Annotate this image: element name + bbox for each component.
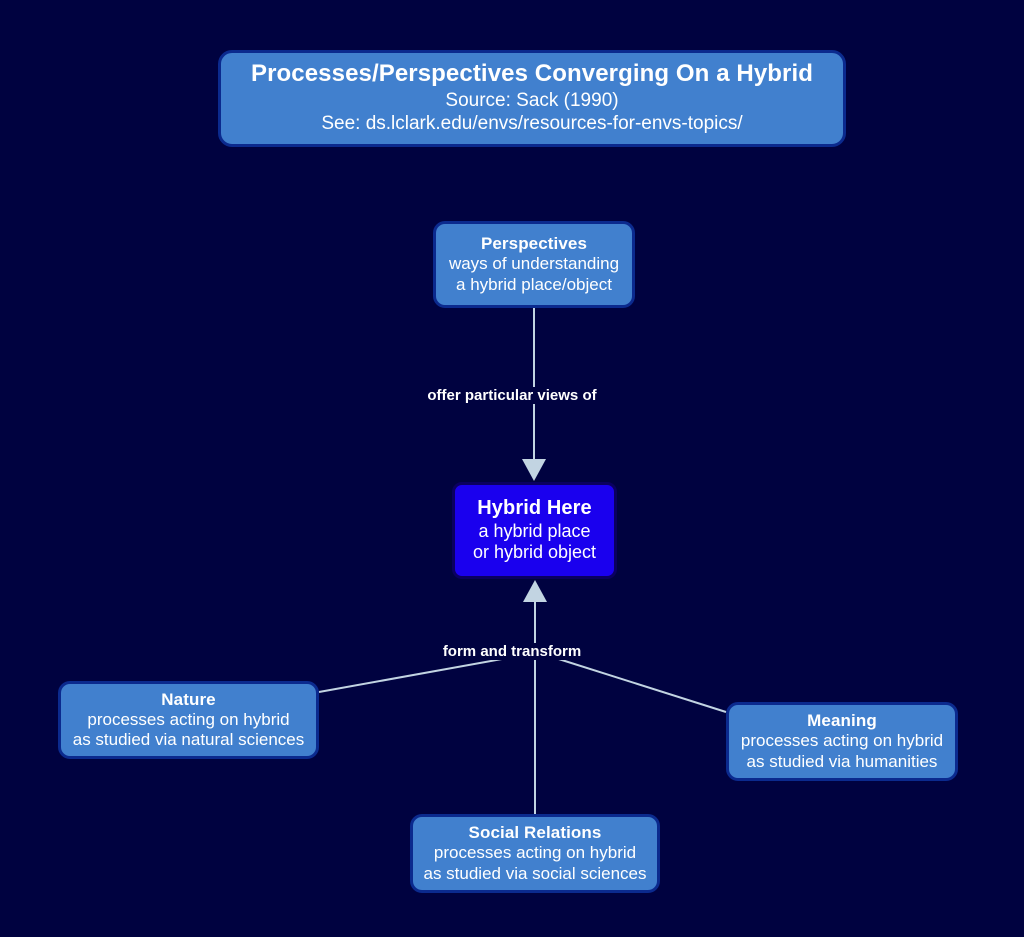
edge-label-form-and-transform: form and transform [0, 643, 1024, 660]
node-meaning-line1: processes acting on hybrid [741, 731, 943, 751]
diagram-canvas: Processes/Perspectives Converging On a H… [0, 0, 1024, 937]
node-perspectives-line1: ways of understanding [449, 254, 619, 274]
edge-label-top-text: offer particular views of [420, 387, 603, 404]
diagram-title: Processes/Perspectives Converging On a H… [251, 60, 813, 88]
node-social-relations-line1: processes acting on hybrid [434, 843, 636, 863]
node-perspectives-line2: a hybrid place/object [456, 275, 612, 295]
node-nature-title: Nature [161, 690, 215, 710]
node-perspectives-title: Perspectives [481, 234, 587, 254]
node-nature-line1: processes acting on hybrid [87, 710, 289, 730]
node-meaning[interactable]: Meaning processes acting on hybrid as st… [726, 702, 958, 781]
node-meaning-title: Meaning [807, 711, 877, 731]
arrowhead-up-icon [523, 580, 547, 602]
node-social-relations[interactable]: Social Relations processes acting on hyb… [410, 814, 660, 893]
node-nature[interactable]: Nature processes acting on hybrid as stu… [58, 681, 319, 759]
node-social-relations-title: Social Relations [469, 823, 602, 843]
edge-label-offer-particular-views-of: offer particular views of [0, 387, 1024, 404]
diagram-see-url: See: ds.lclark.edu/envs/resources-for-en… [321, 113, 742, 135]
node-hybrid-here-line1: a hybrid place [478, 521, 590, 542]
arrowhead-down-icon [522, 459, 546, 481]
edge-label-bottom-text: form and transform [436, 643, 588, 660]
node-hybrid-here-title: Hybrid Here [477, 497, 591, 521]
node-perspectives[interactable]: Perspectives ways of understanding a hyb… [433, 221, 635, 308]
node-social-relations-line2: as studied via social sciences [423, 864, 646, 884]
diagram-title-banner: Processes/Perspectives Converging On a H… [218, 50, 846, 147]
edge-nature-to-hybrid [319, 655, 524, 692]
node-hybrid-here-line2: or hybrid object [473, 542, 596, 563]
diagram-source: Source: Sack (1990) [445, 90, 618, 112]
node-nature-line2: as studied via natural sciences [73, 730, 305, 750]
node-hybrid-here[interactable]: Hybrid Here a hybrid place or hybrid obj… [452, 482, 617, 579]
node-meaning-line2: as studied via humanities [747, 752, 938, 772]
edge-meaning-to-hybrid [546, 655, 726, 712]
